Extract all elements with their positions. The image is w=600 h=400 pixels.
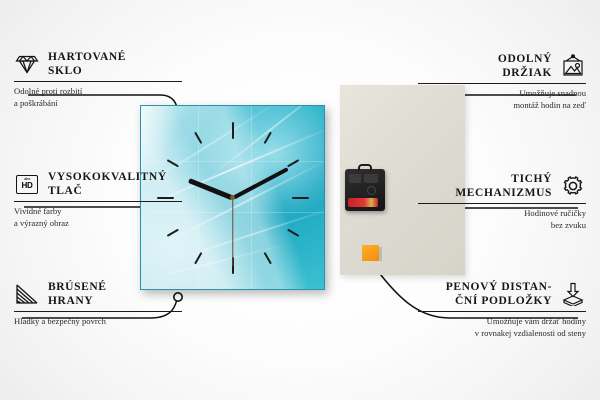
feature-description: Umožňuje snadnou montáž hodin na zeď bbox=[418, 88, 586, 111]
feature-title: VYSOKOKVALITNÝ TLAČ bbox=[48, 170, 167, 198]
divider bbox=[418, 83, 586, 84]
feature-title: ODOLNÝ DRŽIAK bbox=[498, 52, 552, 80]
foam-spacer-icon bbox=[560, 282, 586, 306]
feature-high-quality-print: ultra HD VYSOKOKVALITNÝ TLAČ Vividné far… bbox=[14, 170, 182, 229]
feature-title: BRÚSENÉ HRANY bbox=[48, 280, 107, 308]
wall-hanger-frame-icon bbox=[560, 54, 586, 78]
feature-description: Hodinové ručičky bez zvuku bbox=[418, 208, 586, 231]
feature-description: Hladký a bezpečný povrch bbox=[14, 316, 182, 328]
gear-icon bbox=[560, 174, 586, 198]
clock-mechanism bbox=[345, 169, 385, 211]
clock-second-hand bbox=[232, 198, 233, 266]
feature-beveled-edges: BRÚSENÉ HRANY Hladký a bezpečný povrch bbox=[14, 280, 182, 328]
feature-description: Vividné farby a výrazný obraz bbox=[14, 206, 182, 229]
feature-silent-mechanism: TICHÝ MECHANIZMUS Hodinové ručičky bez z… bbox=[418, 172, 586, 231]
ultra-hd-icon: ultra HD bbox=[14, 172, 40, 196]
feature-title: HARTOVANÉ SKLO bbox=[48, 50, 126, 78]
feature-description: Umožňuje vám držať hodiny v rovnakej vzd… bbox=[418, 316, 586, 339]
foam-spacer-pad bbox=[362, 245, 379, 261]
divider bbox=[418, 311, 586, 312]
divider bbox=[418, 203, 586, 204]
clock-center-hub bbox=[230, 195, 235, 200]
clock-tick-12 bbox=[232, 122, 234, 198]
battery bbox=[348, 198, 378, 207]
beveled-edges-icon bbox=[14, 282, 40, 306]
divider bbox=[14, 311, 182, 312]
feature-title: TICHÝ MECHANIZMUS bbox=[455, 172, 552, 200]
feature-title: PENOVÝ DISTAN- ČNÍ PODLOŽKY bbox=[446, 280, 552, 308]
divider bbox=[14, 201, 182, 202]
infographic-stage: HARTOVANÉ SKLO Odolné proti rozbití a po… bbox=[0, 0, 600, 400]
feature-foam-spacers: PENOVÝ DISTAN- ČNÍ PODLOŽKY Umožňuje vám… bbox=[418, 280, 586, 339]
feature-durable-hanger: ODOLNÝ DRŽIAK Umožňuje snadnou montáž ho… bbox=[418, 52, 586, 111]
divider bbox=[14, 81, 182, 82]
diamond-icon bbox=[14, 52, 40, 76]
feature-description: Odolné proti rozbití a poškrábání bbox=[14, 86, 182, 109]
clock-tick-3 bbox=[233, 197, 309, 199]
feature-tempered-glass: HARTOVANÉ SKLO Odolné proti rozbití a po… bbox=[14, 50, 182, 109]
